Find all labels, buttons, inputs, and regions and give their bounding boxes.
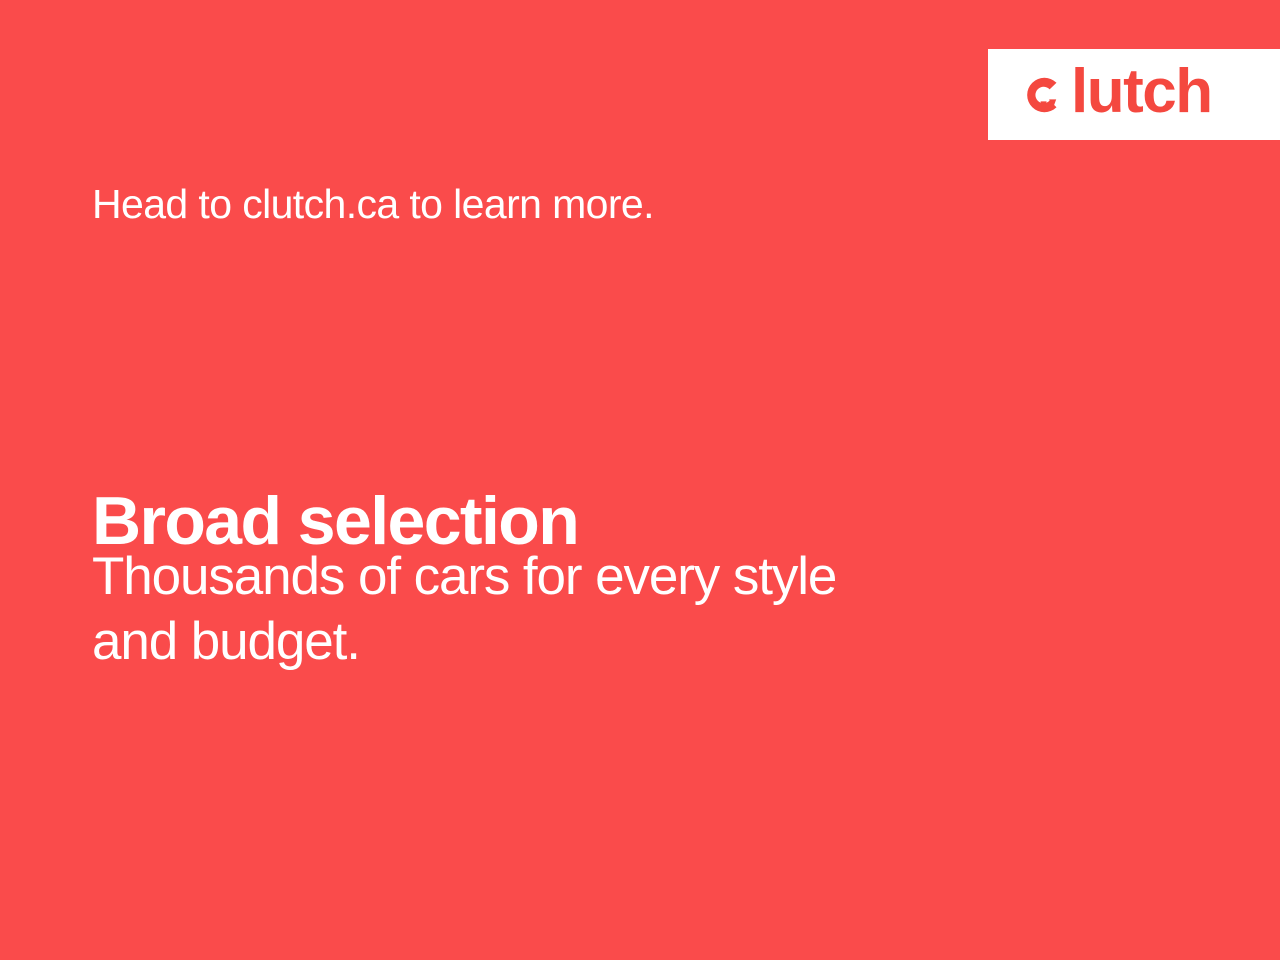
clutch-wordmark: lutch [1071,61,1212,123]
clutch-logo: lutch [1020,64,1212,126]
subheadline-line-1: Thousands of cars for every style [92,545,1052,610]
subheadline: Thousands of cars for every style and bu… [92,545,1052,674]
clutch-c-mark-icon [1020,72,1066,118]
kicker-text: Head to clutch.ca to learn more. [92,180,654,229]
promo-slide: lutch Head to clutch.ca to learn more. B… [0,0,1280,960]
subheadline-line-2: and budget. [92,610,1052,675]
brand-logo-plate: lutch [988,49,1280,140]
